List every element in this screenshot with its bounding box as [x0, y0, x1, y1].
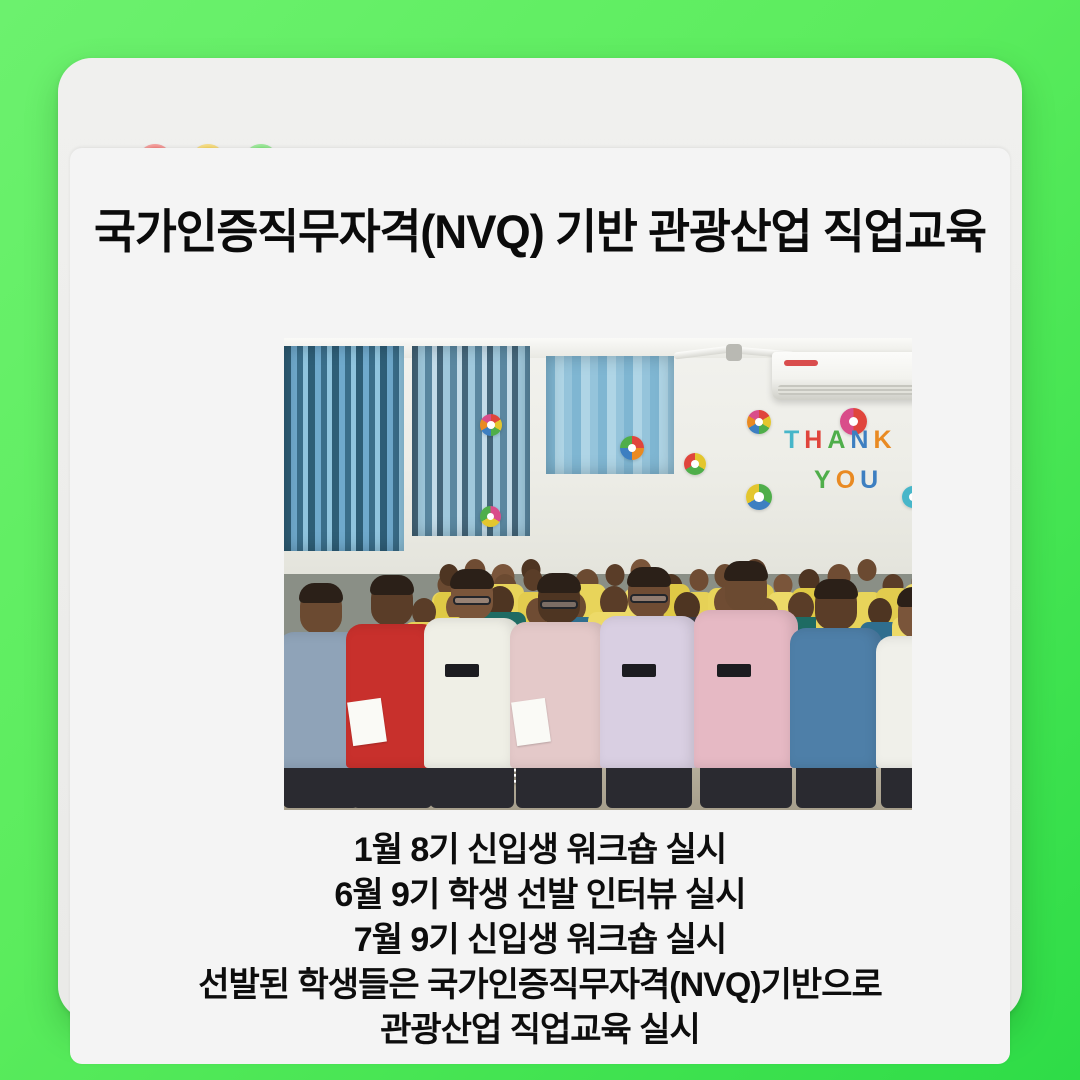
caption-line: 선발된 학생들은 국가인증직무자격(NVQ)기반으로	[70, 963, 1010, 1008]
caption-block: 1월 8기 신입생 워크숍 실시 6월 9기 학생 선발 인터뷰 실시 7월 9…	[70, 828, 1010, 1053]
caption-line: 6월 9기 학생 선발 인터뷰 실시	[70, 873, 1010, 918]
classroom-photo: THANK YOU Good partners굿파트너즈 사단법인 Global…	[284, 338, 912, 810]
audience-member	[790, 582, 882, 768]
audience-member	[694, 564, 798, 768]
paper-flower-icon	[747, 410, 771, 434]
caption-line: 1월 8기 신입생 워크숍 실시	[70, 828, 1010, 873]
audience-member	[510, 576, 608, 768]
audience-member	[424, 572, 520, 768]
audience-member	[876, 590, 912, 768]
audience-member	[600, 570, 698, 768]
caption-line: 7월 9기 신입생 워크숍 실시	[70, 918, 1010, 963]
caption-line: 관광산업 직업교육 실시	[70, 1008, 1010, 1053]
window-titlebar	[58, 58, 1022, 148]
wall-decoration-you: YOU	[814, 466, 883, 495]
content-panel: 국가인증직무자격(NVQ) 기반 관광산업 직업교육	[70, 148, 1010, 1064]
page-title: 국가인증직무자격(NVQ) 기반 관광산업 직업교육	[84, 193, 996, 262]
paper-flower-icon	[620, 436, 644, 460]
air-conditioner-unit	[772, 352, 912, 400]
app-window: 국가인증직무자격(NVQ) 기반 관광산업 직업교육	[58, 58, 1022, 1020]
window-blinds-right	[546, 356, 674, 474]
wall-decoration-thank: THANK	[784, 426, 897, 455]
paper-flower-icon	[684, 453, 706, 475]
audience-front-row	[284, 518, 912, 768]
paper-flower-icon	[480, 414, 502, 436]
